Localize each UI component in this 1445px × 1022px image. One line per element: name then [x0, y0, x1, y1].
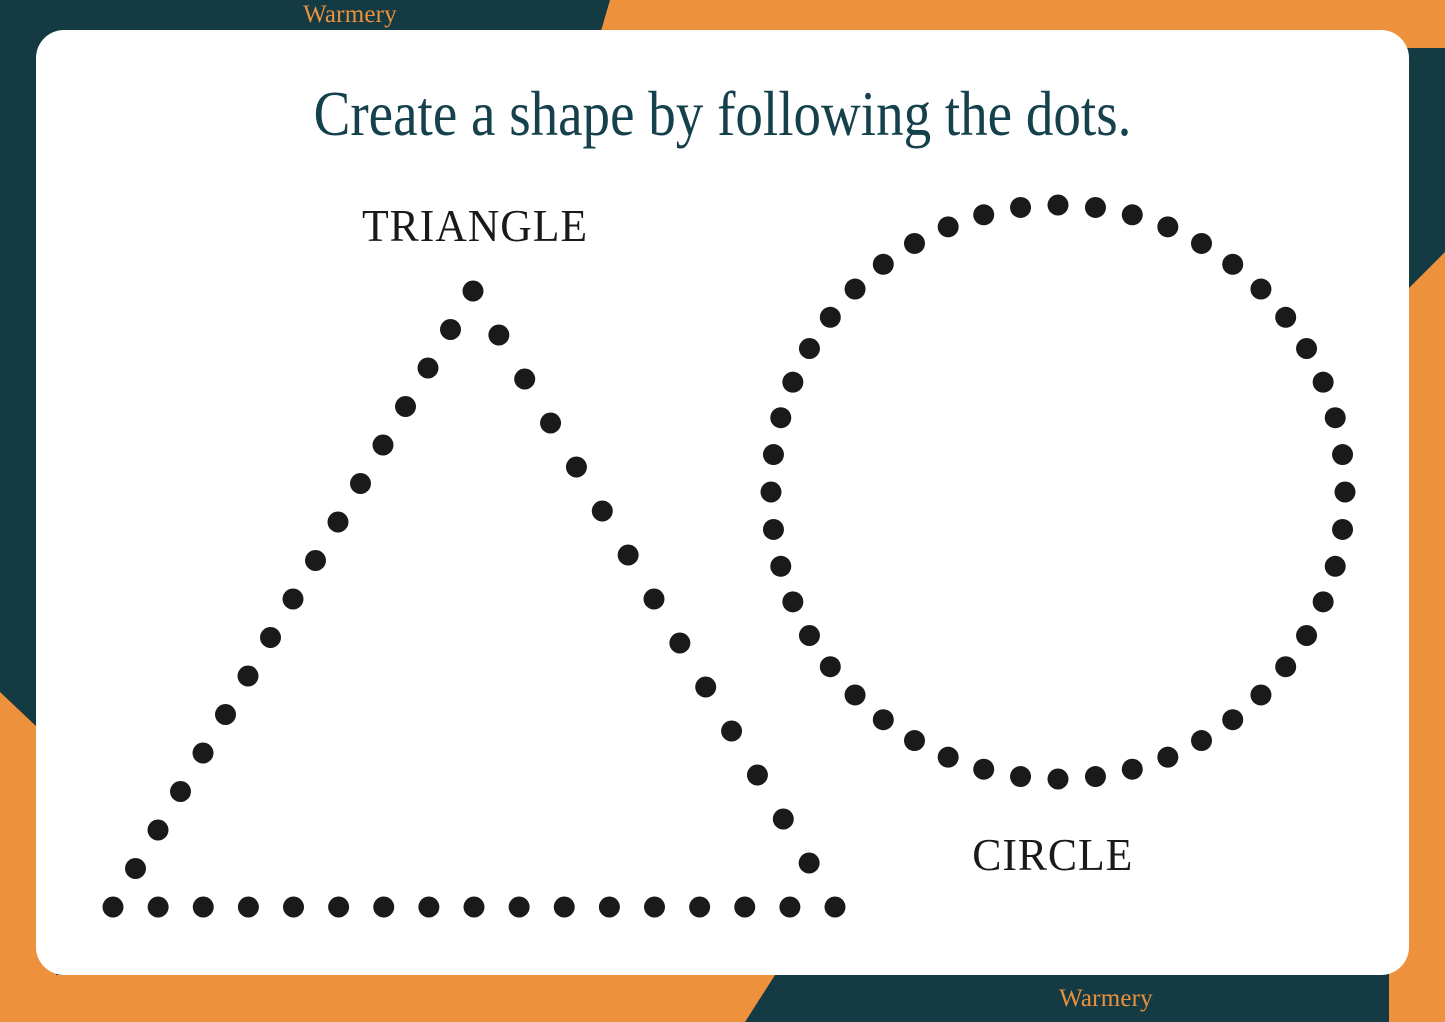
trace-dot [770, 407, 791, 428]
trace-dot [328, 897, 349, 918]
trace-dot [193, 897, 214, 918]
trace-dot [395, 396, 416, 417]
trace-dot [734, 897, 755, 918]
trace-dot [1332, 519, 1353, 540]
trace-dot [1275, 656, 1296, 677]
trace-dot [782, 591, 803, 612]
trace-dot [763, 519, 784, 540]
trace-dot [938, 747, 959, 768]
trace-dot [260, 627, 281, 648]
trace-dot [148, 820, 169, 841]
trace-dot [566, 457, 587, 478]
trace-dot [238, 897, 259, 918]
trace-dot [644, 897, 665, 918]
trace-dot [618, 545, 639, 566]
trace-dot [1157, 747, 1178, 768]
trace-dot [283, 589, 304, 610]
trace-dot [1222, 254, 1243, 275]
trace-dot [328, 512, 349, 533]
trace-dot [103, 897, 124, 918]
trace-dot [554, 897, 575, 918]
trace-dot [540, 413, 561, 434]
trace-dot [747, 765, 768, 786]
trace-dot [488, 325, 509, 346]
trace-dot [1313, 372, 1334, 393]
trace-dot [1296, 625, 1317, 646]
trace-dot [599, 897, 620, 918]
dotted-circle [761, 195, 1356, 790]
trace-dot [1275, 307, 1296, 328]
trace-dot [463, 281, 484, 302]
trace-dot [873, 709, 894, 730]
trace-dot [1222, 709, 1243, 730]
trace-dot [820, 656, 841, 677]
trace-dot [464, 897, 485, 918]
trace-dot [1313, 591, 1334, 612]
trace-dot [1122, 759, 1143, 780]
trace-dot [1250, 279, 1271, 300]
trace-dot [1335, 482, 1356, 503]
trace-dot [1010, 766, 1031, 787]
trace-dot [373, 435, 394, 456]
trace-dot [350, 473, 371, 494]
trace-dot [1157, 216, 1178, 237]
trace-dot [938, 216, 959, 237]
trace-dot [373, 897, 394, 918]
worksheet-page: Warmery Warmery Create a shape by follow… [0, 0, 1445, 1022]
trace-dot [799, 853, 820, 874]
trace-dot [1332, 444, 1353, 465]
trace-dot [418, 358, 439, 379]
trace-dot [283, 897, 304, 918]
trace-dot [782, 372, 803, 393]
trace-dot [845, 279, 866, 300]
trace-dot [779, 897, 800, 918]
trace-dot [763, 444, 784, 465]
trace-dot [193, 743, 214, 764]
trace-dot [1296, 338, 1317, 359]
trace-dot [669, 633, 690, 654]
trace-dot [973, 759, 994, 780]
trace-dot [770, 556, 791, 577]
trace-dot [1250, 684, 1271, 705]
trace-dot [1325, 407, 1346, 428]
trace-dot [904, 730, 925, 751]
trace-dot [1048, 769, 1069, 790]
trace-dot [820, 307, 841, 328]
trace-dot [1122, 204, 1143, 225]
trace-dot [592, 501, 613, 522]
trace-dot [125, 858, 146, 879]
trace-dot [799, 625, 820, 646]
trace-dot [238, 666, 259, 687]
trace-dot [1085, 197, 1106, 218]
trace-dot [689, 897, 710, 918]
trace-dot [761, 482, 782, 503]
trace-dot [1048, 195, 1069, 216]
trace-dot [695, 677, 716, 698]
trace-dot [215, 704, 236, 725]
trace-dot [305, 550, 326, 571]
trace-dot [148, 897, 169, 918]
trace-dot [1085, 766, 1106, 787]
trace-dot [773, 809, 794, 830]
trace-dot [873, 254, 894, 275]
trace-dot [509, 897, 530, 918]
trace-dot [1010, 197, 1031, 218]
trace-dot [644, 589, 665, 610]
trace-dot [170, 781, 191, 802]
trace-dot [1191, 233, 1212, 254]
trace-dot [1191, 730, 1212, 751]
trace-dot [904, 233, 925, 254]
trace-dot [1325, 556, 1346, 577]
trace-dot [721, 721, 742, 742]
trace-dot [418, 897, 439, 918]
trace-dot [845, 684, 866, 705]
trace-dot [973, 204, 994, 225]
trace-dot [440, 319, 461, 340]
trace-dot [799, 338, 820, 359]
dotted-shapes-area [0, 0, 1445, 1022]
dotted-triangle [103, 281, 846, 918]
trace-dot [825, 897, 846, 918]
trace-dot [514, 369, 535, 390]
